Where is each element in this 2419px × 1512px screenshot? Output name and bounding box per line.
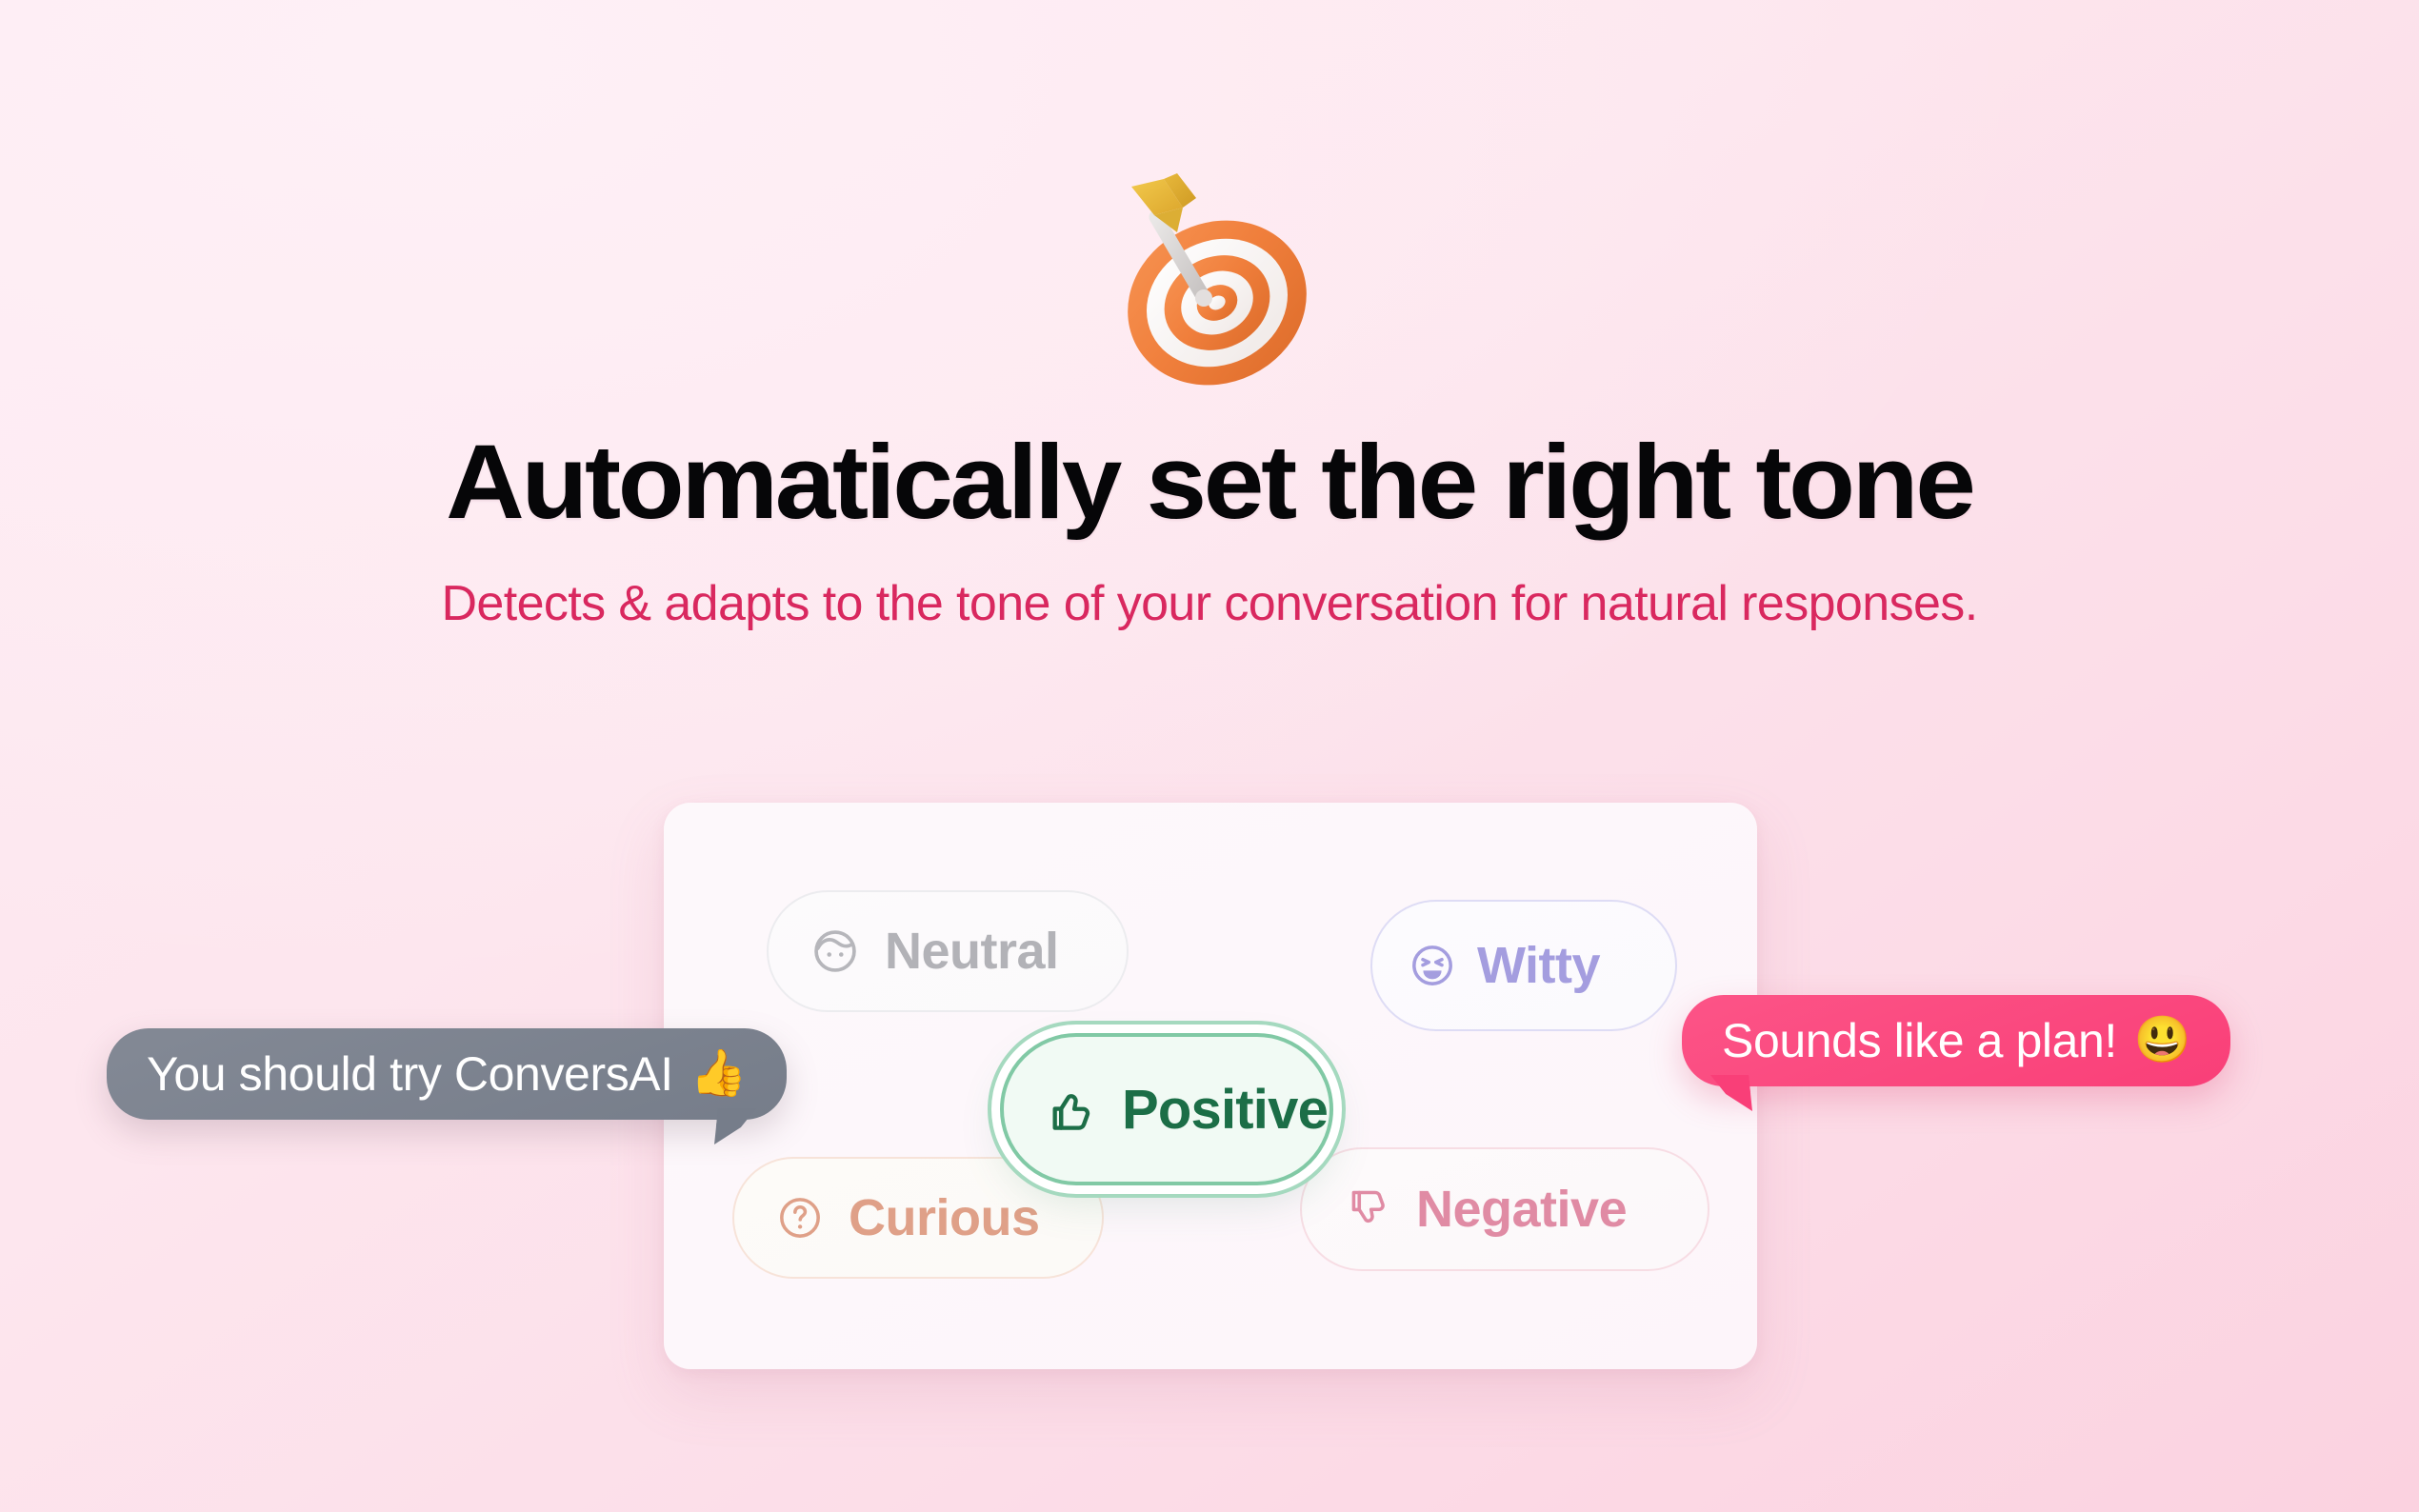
thumbs-up-emoji: 👍 xyxy=(690,1051,747,1097)
laughing-face-icon xyxy=(1409,942,1456,989)
grinning-face-emoji: 😃 xyxy=(2134,1018,2190,1064)
chat-bubble-text: Sounds like a plan! xyxy=(1722,1013,2117,1068)
tone-chip-negative[interactable]: Negative xyxy=(1300,1147,1709,1271)
chat-bubble-tail xyxy=(1710,1075,1752,1111)
tone-chip-positive[interactable]: Positive xyxy=(1000,1033,1333,1185)
chat-bubble-text: You should try ConversAI xyxy=(147,1046,673,1102)
thumbs-down-icon xyxy=(1344,1185,1391,1233)
hero-section: Automatically set the right tone Detects… xyxy=(0,0,2419,633)
tone-chip-witty[interactable]: Witty xyxy=(1370,900,1677,1031)
tone-chip-label: Neutral xyxy=(885,922,1059,981)
tone-chip-label: Negative xyxy=(1416,1180,1627,1239)
question-mark-icon xyxy=(776,1194,824,1242)
tone-chip-label: Positive xyxy=(1122,1078,1328,1142)
thumbs-up-icon xyxy=(1044,1083,1097,1136)
tone-selector-card: Neutral Witty Curious xyxy=(664,803,1757,1369)
chat-bubble-tail xyxy=(714,1108,756,1144)
tone-chip-neutral[interactable]: Neutral xyxy=(767,890,1129,1012)
chat-bubble-outgoing: Sounds like a plan! 😃 xyxy=(1682,995,2230,1086)
tone-chip-label: Witty xyxy=(1477,936,1600,995)
tone-chip-label: Curious xyxy=(849,1188,1040,1247)
chat-bubble-incoming: You should try ConversAI 👍 xyxy=(107,1028,787,1120)
neutral-face-icon xyxy=(810,926,860,976)
dart-target-emoji xyxy=(1090,160,1329,400)
page-subtitle: Detects & adapts to the tone of your con… xyxy=(441,575,1977,633)
page-title: Automatically set the right tone xyxy=(446,430,1972,535)
